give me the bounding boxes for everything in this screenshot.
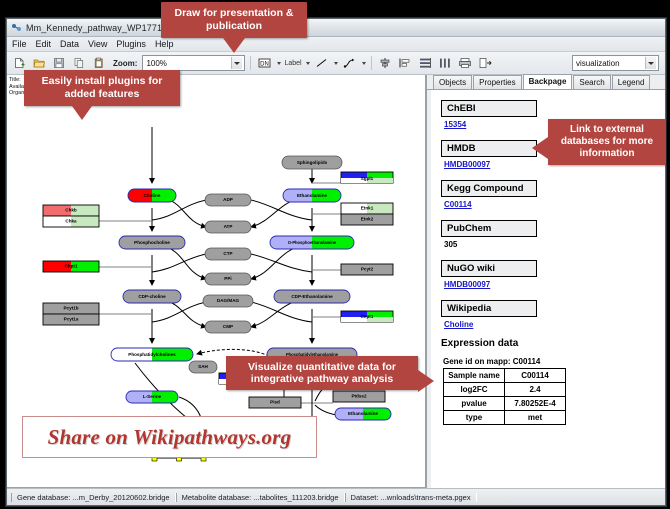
svg-text:Chpt1: Chpt1	[64, 264, 77, 269]
cell-sample-name-label: Sample name	[444, 369, 505, 383]
svg-text:O-Phosphoethanolamine: O-Phosphoethanolamine	[288, 240, 337, 245]
callout-draw-arrow-icon	[223, 38, 245, 53]
svg-text:Etnk1: Etnk1	[361, 206, 374, 211]
tab-search[interactable]: Search	[573, 75, 610, 89]
menu-item-view[interactable]: View	[88, 39, 107, 49]
svg-text:Chka: Chka	[65, 219, 77, 224]
svg-text:Pisd: Pisd	[270, 400, 280, 405]
status-gene-database: Gene database: ...m_Derby_20120602.bridg…	[11, 493, 176, 502]
callout-visualize-text: Visualize quantitative data for integrat…	[248, 361, 396, 385]
callout-plugins-text: Easily install plugins for added feature…	[42, 75, 163, 100]
svg-text:DAG/MAG: DAG/MAG	[217, 298, 240, 303]
interaction-tool-icon[interactable]	[341, 55, 358, 72]
pubchem-heading: PubChem	[441, 220, 537, 237]
status-dataset: Dataset: ...wnloads\trans-meta.pgex	[345, 493, 477, 502]
svg-text:DN: DN	[261, 61, 270, 67]
toolbar-separator	[250, 56, 251, 70]
zoom-label: Zoom:	[113, 59, 137, 68]
svg-text:Ptdss2: Ptdss2	[351, 394, 367, 399]
visualization-combo[interactable]: visualization	[572, 55, 659, 71]
datanode-icon[interactable]: DN	[256, 55, 273, 72]
export-icon[interactable]	[477, 55, 494, 72]
cell-pvalue-value: 7.80252E-4	[505, 397, 566, 411]
svg-text:CTP: CTP	[223, 251, 232, 256]
pathvisio-app-icon	[11, 22, 22, 33]
callout-links: Link to external databases for more info…	[548, 119, 666, 165]
share-banner-text: Share on Wikipathways.org	[48, 425, 292, 450]
menu-item-data[interactable]: Data	[60, 39, 79, 49]
status-bar: Gene database: ...m_Derby_20120602.bridg…	[7, 488, 665, 505]
status-metabolite-database: Metabolite database: ...tabolites_111203…	[176, 493, 345, 502]
svg-text:Phosphocholine: Phosphocholine	[134, 240, 170, 245]
svg-text:Choline: Choline	[144, 193, 161, 198]
align-left-icon[interactable]	[397, 55, 414, 72]
distribute-vertical-icon[interactable]	[417, 55, 434, 72]
svg-text:Pcyt2: Pcyt2	[361, 267, 374, 272]
menu-item-file[interactable]: File	[12, 39, 27, 49]
svg-text:ADP: ADP	[223, 197, 233, 202]
datanode-dropdown-icon[interactable]	[277, 62, 281, 65]
tab-backpage[interactable]: Backpage	[523, 74, 573, 89]
zoom-value: 100%	[146, 59, 166, 68]
svg-text:Etnk2: Etnk2	[361, 217, 374, 222]
callout-links-text: Link to external databases for more info…	[561, 124, 653, 159]
paste-icon[interactable]	[90, 55, 107, 72]
table-row: type met	[444, 411, 566, 425]
wikipedia-heading: Wikipedia	[441, 300, 537, 317]
cell-log2fc-value: 2.4	[505, 383, 566, 397]
visualization-value: visualization	[576, 59, 620, 68]
wikipedia-link[interactable]: Choline	[444, 320, 655, 329]
menu-item-plugins[interactable]: Plugins	[116, 39, 146, 49]
cell-sample-name-value: C00114	[505, 369, 566, 383]
callout-visualize-arrow-icon	[418, 370, 434, 392]
open-folder-icon[interactable]	[30, 55, 47, 72]
new-document-icon[interactable]	[10, 55, 27, 72]
print-icon[interactable]	[457, 55, 474, 72]
toolbar-separator-2	[371, 56, 372, 70]
callout-visualize: Visualize quantitative data for integrat…	[226, 356, 418, 390]
chebi-heading: ChEBI	[441, 100, 537, 117]
svg-text:L-Serine: L-Serine	[143, 394, 162, 399]
line-dropdown-icon[interactable]	[334, 62, 338, 65]
cell-type-label: type	[444, 411, 505, 425]
svg-text:Pcyt1b: Pcyt1b	[63, 306, 78, 311]
table-row: pvalue 7.80252E-4	[444, 397, 566, 411]
callout-links-arrow-icon	[532, 137, 548, 159]
svg-text:Chkb: Chkb	[65, 208, 77, 213]
svg-text:Cept1: Cept1	[361, 314, 374, 319]
copy-icon[interactable]	[70, 55, 87, 72]
svg-text:Ethanolamine: Ethanolamine	[348, 411, 379, 416]
hmdb-heading: HMDB	[441, 140, 537, 157]
chevron-down-icon[interactable]	[231, 57, 242, 69]
svg-text:ATP: ATP	[224, 224, 233, 229]
menu-item-edit[interactable]: Edit	[36, 39, 52, 49]
expression-data-table: Sample name C00114 log2FC 2.4 pvalue 7.8…	[443, 368, 566, 425]
svg-text:Pcyt1a: Pcyt1a	[64, 317, 79, 322]
cell-log2fc-label: log2FC	[444, 383, 505, 397]
nugo-wiki-link[interactable]: HMDB00097	[444, 280, 655, 289]
label-dropdown-icon[interactable]	[306, 62, 310, 65]
kegg-compound-link[interactable]: C00114	[444, 200, 655, 209]
tab-legend[interactable]: Legend	[612, 75, 651, 89]
side-panel-tabs: Objects Properties Backpage Search Legen…	[427, 75, 665, 90]
callout-plugins-arrow-icon	[72, 106, 92, 120]
expression-data-heading: Expression data	[441, 338, 655, 349]
tab-properties[interactable]: Properties	[473, 75, 521, 89]
zoom-combo[interactable]: 100%	[142, 55, 245, 71]
visualization-chevron-down-icon[interactable]	[645, 57, 656, 69]
svg-text:Ethanolamine: Ethanolamine	[297, 193, 328, 198]
share-banner: Share on Wikipathways.org	[22, 416, 317, 458]
label-tool-label[interactable]: Label	[284, 60, 301, 67]
svg-text:PPi: PPi	[224, 276, 231, 281]
callout-draw: Draw for presentation & publication	[161, 2, 307, 38]
table-row: log2FC 2.4	[444, 383, 566, 397]
distribute-horizontal-icon[interactable]	[437, 55, 454, 72]
save-disk-icon[interactable]	[50, 55, 67, 72]
cell-pvalue-label: pvalue	[444, 397, 505, 411]
svg-text:SAH: SAH	[198, 364, 208, 369]
svg-text:CMP: CMP	[223, 324, 233, 329]
tab-objects[interactable]: Objects	[433, 75, 472, 89]
gene-id-on-mapp: Gene id on mapp: C00114	[443, 357, 655, 366]
kegg-compound-heading: Kegg Compound	[441, 180, 537, 197]
svg-text:CDP-choline: CDP-choline	[138, 294, 166, 299]
interaction-dropdown-icon[interactable]	[362, 62, 366, 65]
callout-plugins: Easily install plugins for added feature…	[24, 70, 180, 106]
align-center-icon[interactable]	[377, 55, 394, 72]
svg-text:CDP-Ethanolamine: CDP-Ethanolamine	[291, 294, 333, 299]
svg-text:Sgpl1: Sgpl1	[361, 176, 374, 181]
cell-type-value: met	[505, 411, 566, 425]
svg-text:Phosphatidylcholines: Phosphatidylcholines	[128, 352, 176, 357]
table-row: Sample name C00114	[444, 369, 566, 383]
menu-bar: File Edit Data View Plugins Help	[7, 37, 665, 52]
menu-item-help[interactable]: Help	[155, 39, 174, 49]
svg-text:Sphingolipids: Sphingolipids	[297, 160, 328, 165]
line-tool-icon[interactable]	[313, 55, 330, 72]
nugo-wiki-heading: NuGO wiki	[441, 260, 537, 277]
callout-draw-text: Draw for presentation & publication	[174, 7, 293, 32]
pubchem-value: 305	[444, 240, 655, 249]
title-bar: Mm_Kennedy_pathway_WP1771_45176.gpml	[7, 19, 665, 37]
